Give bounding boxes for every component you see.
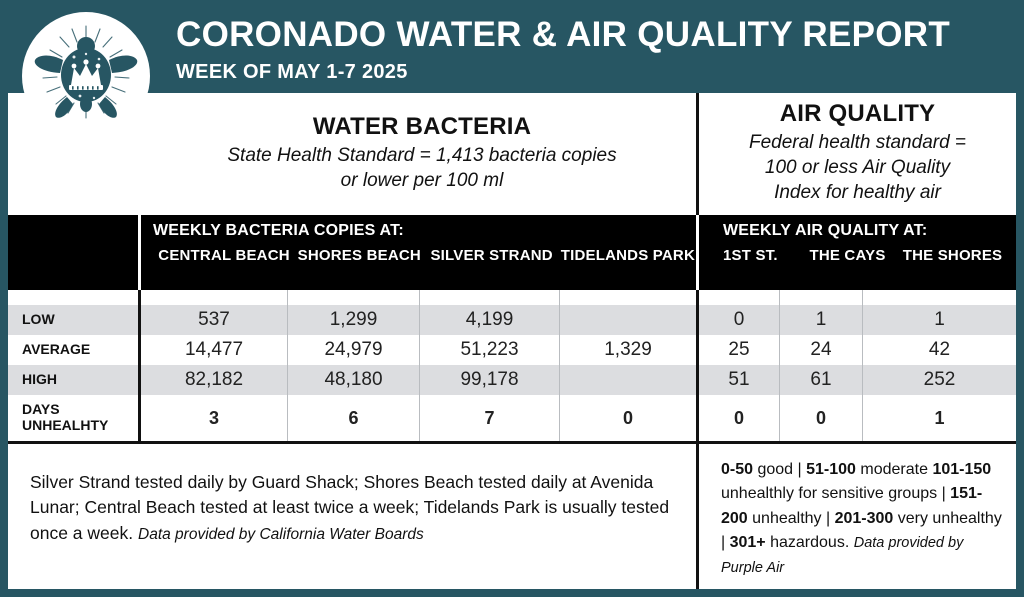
- cell-average-central-beach: 14,477: [141, 335, 287, 365]
- cell-high-the-cays: 61: [779, 365, 862, 395]
- cell-average-the-cays: 24: [779, 335, 862, 365]
- crowned-turtle-logo-icon: [22, 12, 150, 140]
- water-standard-line1: State Health Standard = 1,413 bacteria c…: [227, 144, 616, 168]
- cell-low-shores-beach: 1,299: [287, 305, 419, 335]
- water-standard-line2: or lower per 100 ml: [227, 169, 616, 193]
- table-row-high: HIGH 82,182 48,180 99,178 51 61 252: [8, 365, 1016, 395]
- row-label-average: AVERAGE: [8, 342, 138, 358]
- water-standard: State Health Standard = 1,413 bacteria c…: [227, 144, 616, 192]
- table-top-spacer: [8, 290, 1016, 305]
- row-label-days-line2: UNHEALHTY: [22, 418, 138, 434]
- column-header-silver-strand: SILVER STRAND: [424, 247, 560, 264]
- air-standard-line2: 100 or less Air Quality: [749, 156, 966, 181]
- cell-average-silver-strand: 51,223: [419, 335, 559, 365]
- air-standard-line3: Index for healthy air: [749, 181, 966, 206]
- band-corner-blank: [8, 215, 138, 290]
- column-header-central-beach: CENTRAL BEACH: [153, 247, 295, 264]
- cell-days-tidelands-park: 0: [559, 395, 696, 441]
- water-footnote: Silver Strand tested daily by Guard Shac…: [8, 444, 696, 589]
- report-header: CORONADO WATER & AIR QUALITY REPORT WEEK…: [8, 8, 1016, 93]
- page-title: CORONADO WATER & AIR QUALITY REPORT: [176, 17, 950, 54]
- cell-high-1st-st: 51: [699, 365, 779, 395]
- column-header-shores-beach: SHORES BEACH: [295, 247, 423, 264]
- aqi-label-unhealthy: unhealthy |: [748, 510, 835, 527]
- column-header-1st-st: 1ST ST.: [723, 247, 806, 264]
- table-row-average: AVERAGE 14,477 24,979 51,223 1,329 25 24…: [8, 335, 1016, 365]
- cell-days-the-cays: 0: [779, 395, 862, 441]
- air-section-header: AIR QUALITY Federal health standard = 10…: [696, 93, 1016, 215]
- report-card: WATER BACTERIA State Health Standard = 1…: [8, 93, 1016, 589]
- cell-low-silver-strand: 4,199: [419, 305, 559, 335]
- cell-low-tidelands-park: [559, 305, 696, 335]
- page-subtitle: WEEK OF MAY 1-7 2025: [176, 61, 950, 84]
- cell-days-the-shores: 1: [862, 395, 1016, 441]
- aqi-range-301-plus: 301+: [730, 534, 766, 551]
- cell-low-central-beach: 537: [141, 305, 287, 335]
- cell-days-1st-st: 0: [699, 395, 779, 441]
- report-poster: CORONADO WATER & AIR QUALITY REPORT WEEK…: [0, 0, 1024, 597]
- water-band-title: WEEKLY BACTERIA COPIES AT:: [153, 222, 696, 240]
- row-label-high: HIGH: [8, 372, 138, 388]
- footnotes-row: Silver Strand tested daily by Guard Shac…: [8, 444, 1016, 589]
- aqi-label-hazardous: hazardous.: [766, 534, 854, 551]
- column-header-tidelands-park: TIDELANDS PARK: [560, 247, 696, 264]
- column-header-the-shores: THE SHORES: [889, 247, 1016, 264]
- aqi-label-unhealthy-sensitive: unhealthly for sensitive groups |: [721, 485, 950, 502]
- row-label-days-unhealthy: DAYS UNHEALHTY: [8, 402, 138, 433]
- cell-days-shores-beach: 6: [287, 395, 419, 441]
- air-standard: Federal health standard = 100 or less Ai…: [749, 131, 966, 205]
- cell-low-the-cays: 1: [779, 305, 862, 335]
- section-title-row: WATER BACTERIA State Health Standard = 1…: [8, 93, 1016, 215]
- row-label-days-line1: DAYS: [22, 402, 138, 418]
- cell-high-tidelands-park: [559, 365, 696, 395]
- aqi-label-good: good |: [753, 461, 806, 478]
- aqi-label-moderate: moderate: [856, 461, 932, 478]
- water-heading: WATER BACTERIA: [313, 113, 531, 141]
- water-column-headers: WEEKLY BACTERIA COPIES AT: CENTRAL BEACH…: [138, 215, 696, 290]
- air-column-headers: WEEKLY AIR QUALITY AT: 1ST ST. THE CAYS …: [696, 215, 1016, 290]
- table-row-days-unhealthy: DAYS UNHEALHTY 3 6 7 0 0 0 1: [8, 395, 1016, 441]
- cell-low-1st-st: 0: [699, 305, 779, 335]
- cell-days-silver-strand: 7: [419, 395, 559, 441]
- air-quality-scale-legend: 0-50 good | 51-100 moderate 101-150 unhe…: [696, 444, 1016, 589]
- air-band-title: WEEKLY AIR QUALITY AT:: [723, 222, 1016, 240]
- cell-high-central-beach: 82,182: [141, 365, 287, 395]
- cell-average-shores-beach: 24,979: [287, 335, 419, 365]
- cell-high-shores-beach: 48,180: [287, 365, 419, 395]
- row-label-low: LOW: [8, 312, 138, 328]
- cell-average-tidelands-park: 1,329: [559, 335, 696, 365]
- aqi-range-51-100: 51-100: [806, 461, 856, 478]
- cell-low-the-shores: 1: [862, 305, 1016, 335]
- water-footnote-source: Data provided by California Water Boards: [138, 526, 424, 543]
- cell-average-the-shores: 42: [862, 335, 1016, 365]
- header-title-block: CORONADO WATER & AIR QUALITY REPORT WEEK…: [176, 17, 950, 84]
- air-standard-line1: Federal health standard =: [749, 131, 966, 156]
- cell-average-1st-st: 25: [699, 335, 779, 365]
- column-header-the-cays: THE CAYS: [806, 247, 889, 264]
- table-row-low: LOW 537 1,299 4,199 0 1 1: [8, 305, 1016, 335]
- cell-days-central-beach: 3: [141, 395, 287, 441]
- cell-high-silver-strand: 99,178: [419, 365, 559, 395]
- aqi-range-201-300: 201-300: [835, 510, 894, 527]
- table-bottom-rule: [8, 441, 1016, 444]
- aqi-range-101-150: 101-150: [932, 461, 991, 478]
- air-heading: AIR QUALITY: [780, 100, 936, 128]
- data-table: LOW 537 1,299 4,199 0 1 1 AVERAGE 14,477…: [8, 290, 1016, 444]
- aqi-range-0-50: 0-50: [721, 461, 753, 478]
- column-header-band: WEEKLY BACTERIA COPIES AT: CENTRAL BEACH…: [8, 215, 1016, 290]
- cell-high-the-shores: 252: [862, 365, 1016, 395]
